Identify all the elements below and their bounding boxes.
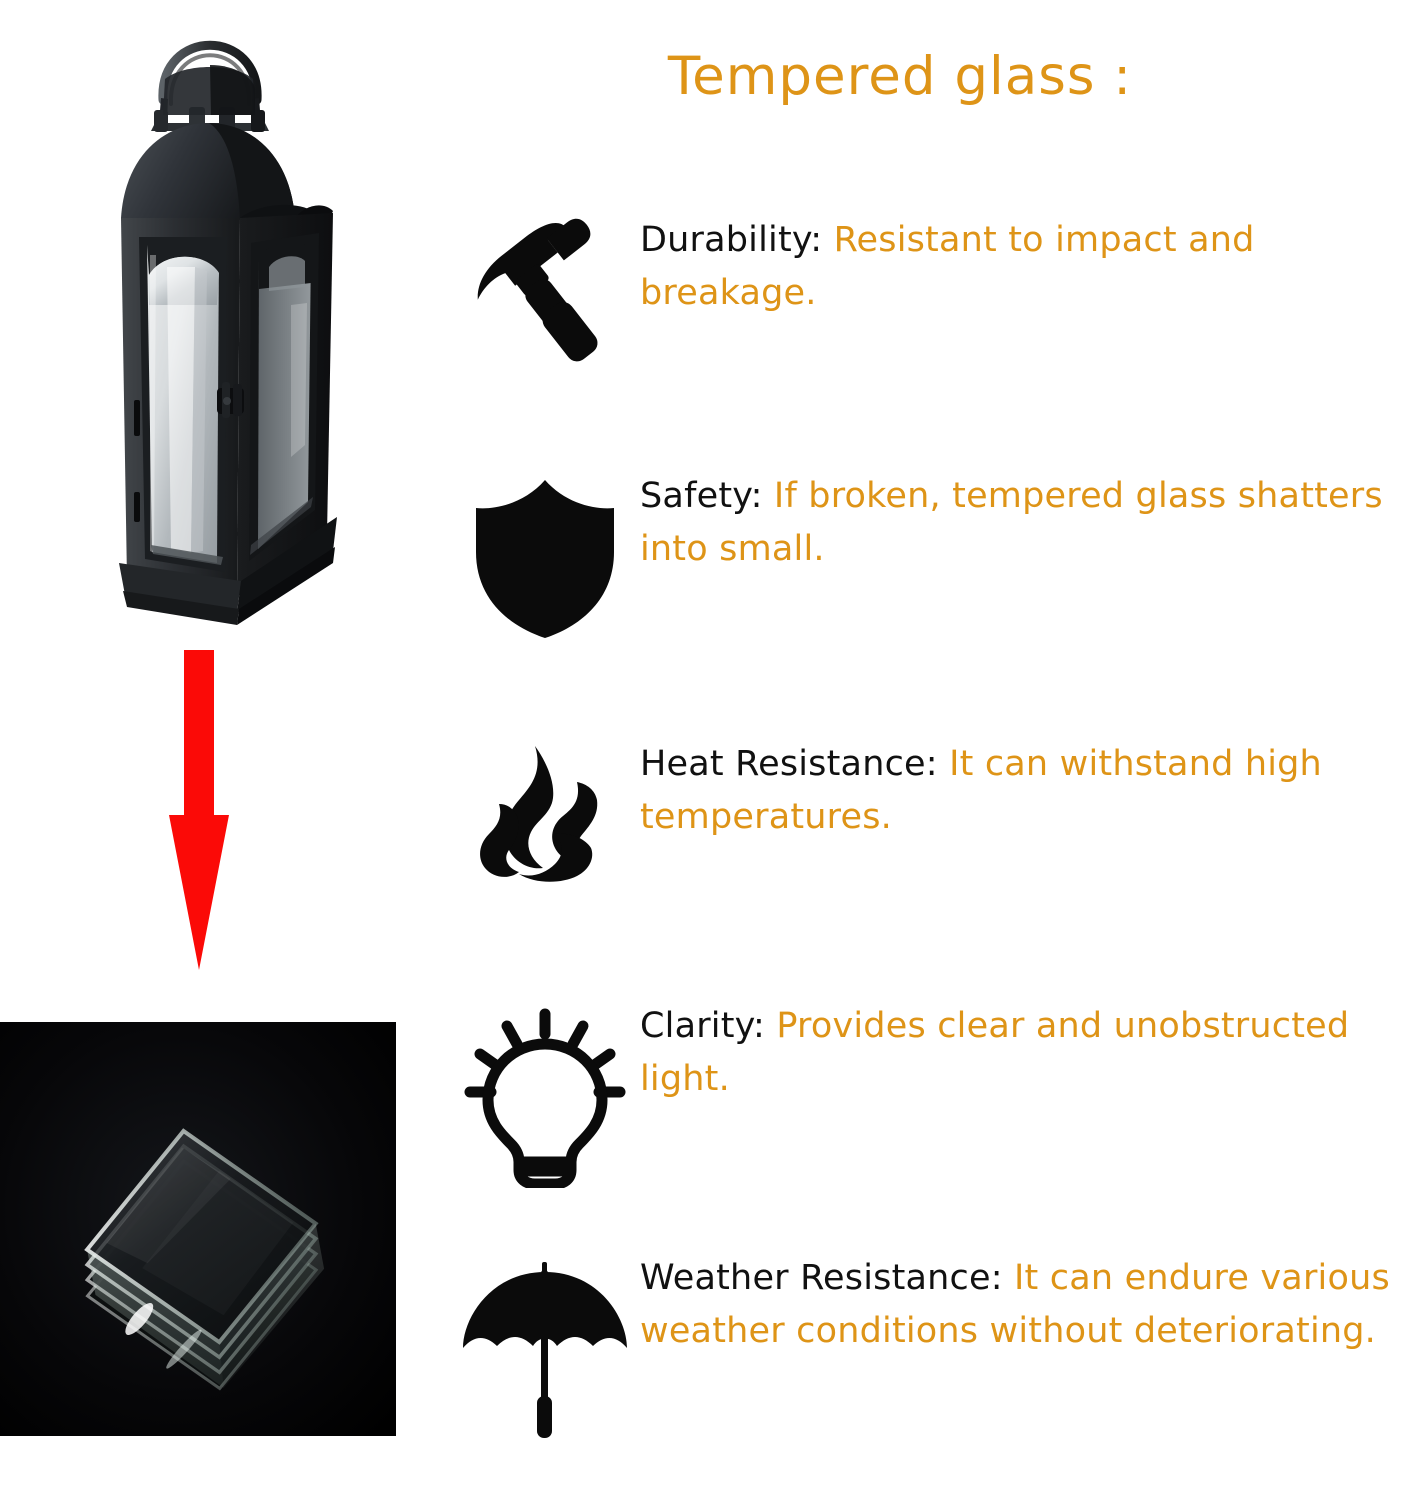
flame-icon <box>450 738 640 884</box>
feature-label-weather-resistance: Weather Resistance: <box>640 1258 1003 1298</box>
feature-text-clarity: Clarity: Provides clear and unobstructed… <box>640 1000 1416 1106</box>
lantern-body <box>119 213 337 625</box>
feature-row-durability: Durability: Resistant to impact and brea… <box>450 214 1416 378</box>
features-column: Tempered glass : Durability: Resistant t… <box>450 0 1416 1500</box>
feature-row-heat-resistance: Heat Resistance: It can withstand high t… <box>450 738 1416 884</box>
feature-text-durability: Durability: Resistant to impact and brea… <box>640 214 1416 320</box>
umbrella-icon <box>450 1252 640 1442</box>
feature-label-clarity: Clarity: <box>640 1006 765 1046</box>
feature-text-safety: Safety: If broken, tempered glass shatte… <box>640 470 1416 576</box>
lantern-product-image <box>55 5 365 645</box>
feature-label-safety: Safety: <box>640 476 763 516</box>
hammer-icon <box>450 214 640 378</box>
feature-row-weather-resistance: Weather Resistance: It can endure variou… <box>450 1252 1416 1442</box>
feature-label-durability: Durability: <box>640 220 822 260</box>
feature-row-safety: Safety: If broken, tempered glass shatte… <box>450 470 1416 642</box>
left-media-column <box>0 0 450 1500</box>
red-down-arrow-icon <box>120 645 280 975</box>
shield-icon <box>450 470 640 642</box>
tempered-glass-panes-image <box>0 1022 396 1436</box>
feature-row-clarity: Clarity: Provides clear and unobstructed… <box>450 1000 1416 1188</box>
feature-text-heat-resistance: Heat Resistance: It can withstand high t… <box>640 738 1416 844</box>
lightbulb-icon <box>450 1000 640 1188</box>
lantern-dome <box>121 123 333 225</box>
feature-label-heat-resistance: Heat Resistance: <box>640 744 938 784</box>
page-title: Tempered glass : <box>450 46 1350 107</box>
feature-text-weather-resistance: Weather Resistance: It can endure variou… <box>640 1252 1416 1358</box>
